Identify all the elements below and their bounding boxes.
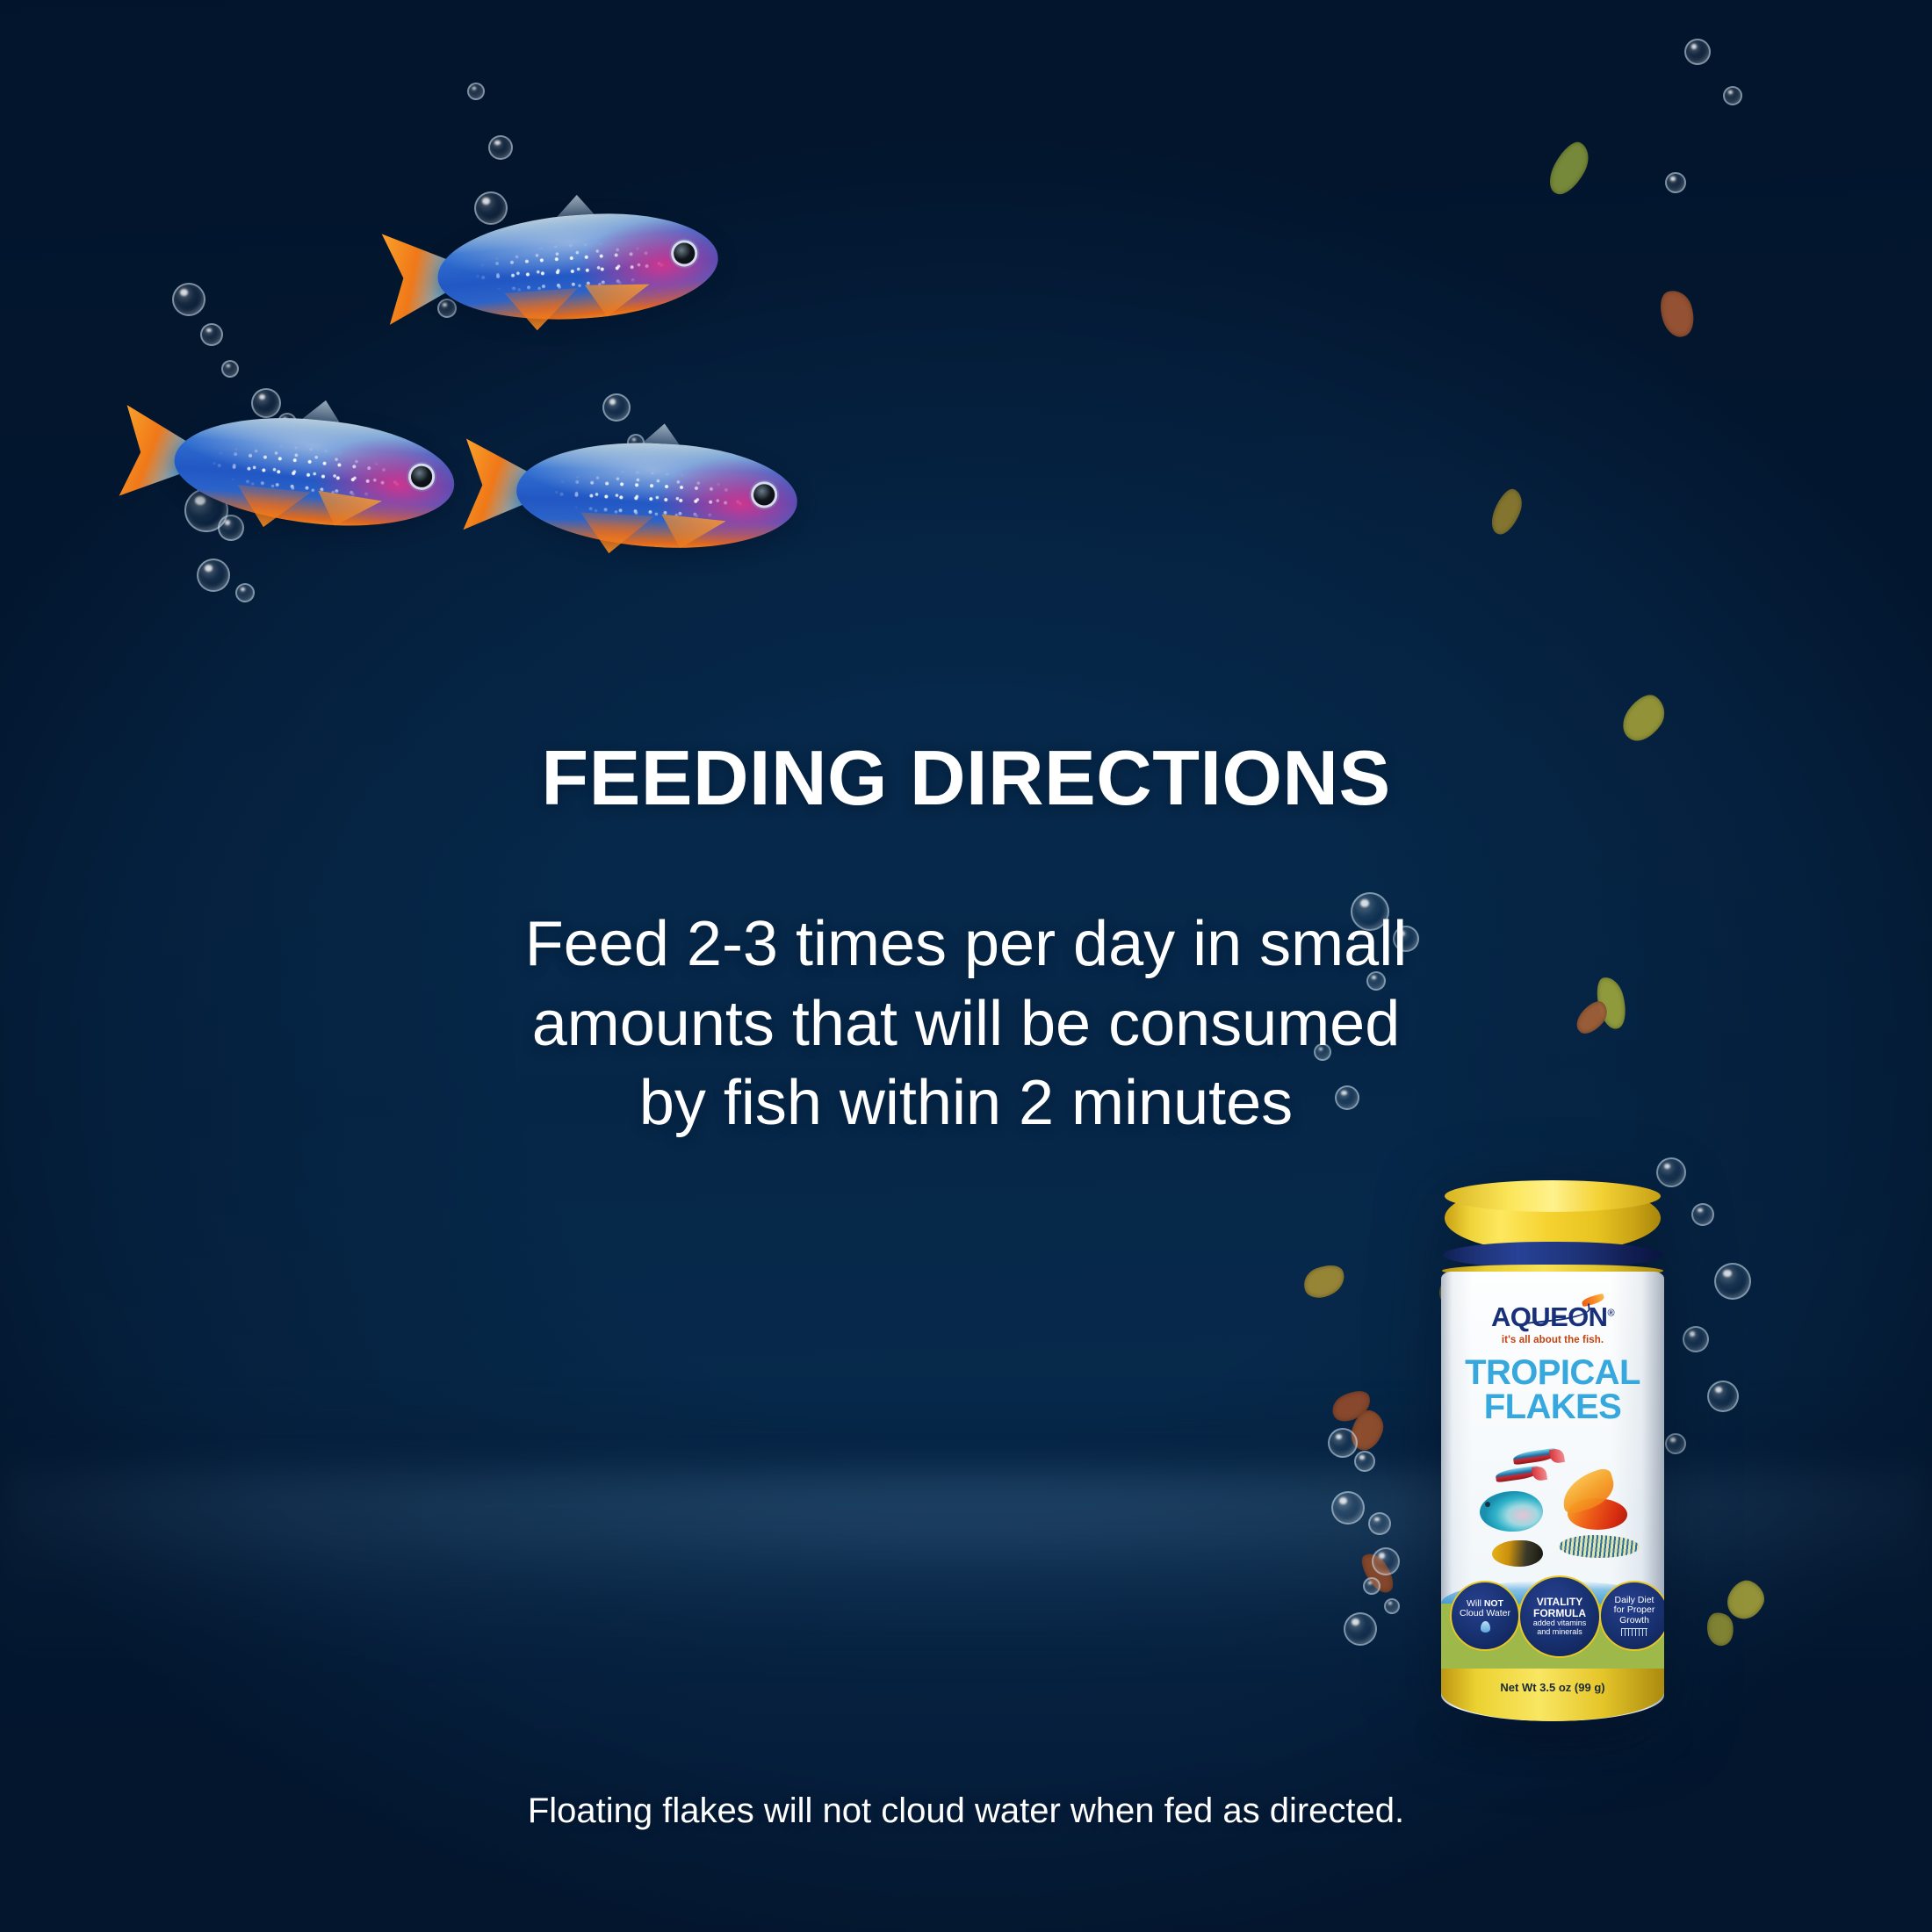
air-bubble: [172, 283, 205, 316]
air-bubble: [467, 83, 485, 100]
molly-icon: [1492, 1540, 1543, 1567]
air-bubble: [221, 360, 239, 378]
feeding-instructions-text: Feed 2-3 times per day in small amounts …: [395, 905, 1537, 1143]
air-bubble: [1656, 1157, 1686, 1187]
dwarf-gourami-icon: [1480, 1491, 1543, 1532]
air-bubble: [235, 583, 255, 602]
page-title: FEEDING DIRECTIONS: [0, 733, 1932, 823]
air-bubble: [1683, 1326, 1709, 1352]
air-bubble: [1328, 1428, 1358, 1458]
brand-name: AQUEON: [1491, 1301, 1607, 1332]
air-bubble: [602, 393, 631, 422]
air-bubble: [1691, 1203, 1714, 1226]
air-bubble: [1384, 1598, 1400, 1614]
neon-tetra-tail-1: [1549, 1448, 1565, 1464]
registered-mark: ®: [1607, 1308, 1614, 1319]
label-gold-footer: [1441, 1669, 1664, 1721]
aqueon-feeding-directions-graphic: FEEDING DIRECTIONS Feed 2-3 times per da…: [0, 0, 1932, 1932]
air-bubble: [1331, 1491, 1365, 1525]
label-badges: Will NOT Cloud Water VITALITY FORMULA ad…: [1448, 1581, 1657, 1646]
dwarf-gourami-eye: [1485, 1502, 1490, 1507]
brand-tagline: it's all about the fish.: [1441, 1335, 1664, 1345]
badge-daily-diet: Daily Diet for Proper Growth: [1599, 1581, 1664, 1651]
air-bubble: [1354, 1451, 1375, 1472]
feeding-instructions-line-1: Feed 2-3 times per day in small: [395, 905, 1537, 984]
product-label: AQUEON® it's all about the fish. TROPICA…: [1441, 1272, 1664, 1721]
water-drop-icon: [1481, 1621, 1490, 1633]
product-name: TROPICAL FLAKES: [1441, 1356, 1664, 1424]
badge-1-line-2: Cloud Water: [1460, 1609, 1510, 1618]
product-container-tropical-flakes: AQUEON® it's all about the fish. TROPICA…: [1439, 1184, 1666, 1732]
label-fish-illustrations: [1453, 1447, 1652, 1579]
badge-3-line-2: for Proper: [1614, 1605, 1655, 1615]
brand-logo: AQUEON®: [1441, 1301, 1664, 1333]
container-lid-top: [1445, 1180, 1661, 1212]
net-weight-text: Net Wt 3.5 oz (99 g): [1441, 1681, 1664, 1694]
badge-will-not-cloud-water: Will NOT Cloud Water: [1450, 1581, 1520, 1651]
badge-3-line-3: Growth: [1619, 1616, 1649, 1626]
air-bubble: [1707, 1381, 1739, 1412]
celestial-pearl-danio-center: [514, 436, 800, 555]
air-bubble: [218, 515, 244, 541]
celestial-pearl-danio-top: [434, 205, 721, 328]
feeding-instructions-line-3: by fish within 2 minutes: [395, 1063, 1537, 1143]
air-bubble: [200, 323, 223, 346]
air-bubble: [1344, 1612, 1377, 1646]
air-bubble: [1368, 1512, 1391, 1535]
air-bubble: [1665, 1433, 1686, 1454]
product-name-line-1: TROPICAL: [1465, 1353, 1640, 1392]
product-name-line-2: FLAKES: [1441, 1390, 1664, 1424]
badge-2-sub-2: and minerals: [1537, 1628, 1582, 1637]
air-bubble: [488, 135, 513, 160]
air-bubble: [1684, 39, 1711, 65]
badge-vitality-formula: VITALITY FORMULA added vitamins and mine…: [1518, 1575, 1601, 1658]
zebra-danio-icon: [1559, 1535, 1640, 1558]
ruler-icon: [1621, 1628, 1647, 1636]
feeding-instructions-line-2: amounts that will be consumed: [395, 984, 1537, 1064]
air-bubble: [1363, 1577, 1381, 1595]
air-bubble: [1665, 172, 1686, 193]
air-bubble: [1714, 1263, 1751, 1300]
air-bubble: [197, 559, 230, 592]
neon-tetra-tail-2: [1532, 1466, 1547, 1481]
footnote-text: Floating flakes will not cloud water whe…: [0, 1791, 1932, 1831]
air-bubble: [1723, 86, 1742, 105]
air-bubble: [1372, 1547, 1400, 1575]
